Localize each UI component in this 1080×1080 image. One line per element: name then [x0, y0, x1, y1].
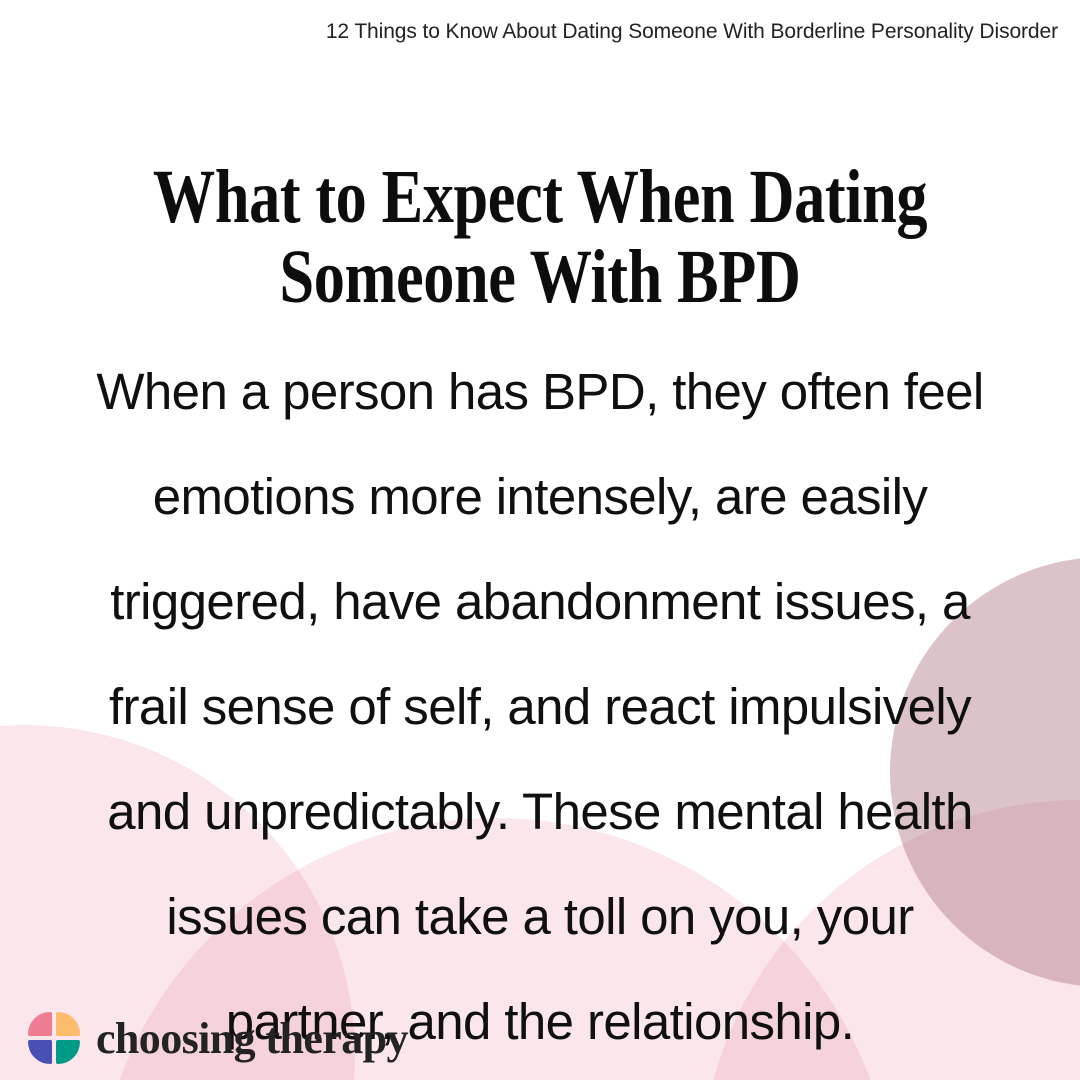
body-line-5: and unpredictably. These mental health [107, 783, 973, 840]
body-line-4: frail sense of self, and react impulsive… [109, 678, 971, 735]
logo-quadrant-top-right-icon [56, 1012, 80, 1036]
page-title: What to Expect When Dating Someone With … [146, 157, 933, 318]
logo-quadrant-bottom-left-icon [28, 1040, 52, 1064]
body-line-2: emotions more intensely, are easily [153, 468, 928, 525]
logo-wordmark: choosing therapy [96, 1017, 408, 1061]
page-title-line-1: What to Expect When Dating [153, 155, 927, 239]
article-series-title: 12 Things to Know About Dating Someone W… [0, 20, 1058, 44]
brand-logo[interactable]: choosing therapy [28, 1012, 408, 1066]
logo-quadrant-bottom-right-icon [56, 1040, 80, 1064]
body-line-3: triggered, have abandonment issues, a [110, 573, 970, 630]
choosing-therapy-petal-mark-icon [28, 1012, 82, 1066]
body-line-6: issues can take a toll on you, your [166, 888, 913, 945]
logo-quadrant-top-left-icon [28, 1012, 52, 1036]
body-paragraph: When a person has BPD, they often feel e… [72, 339, 1008, 1074]
page-title-line-2: Someone With BPD [280, 235, 801, 319]
body-line-1: When a person has BPD, they often feel [96, 363, 983, 420]
infographic-card: 12 Things to Know About Dating Someone W… [0, 0, 1080, 1080]
